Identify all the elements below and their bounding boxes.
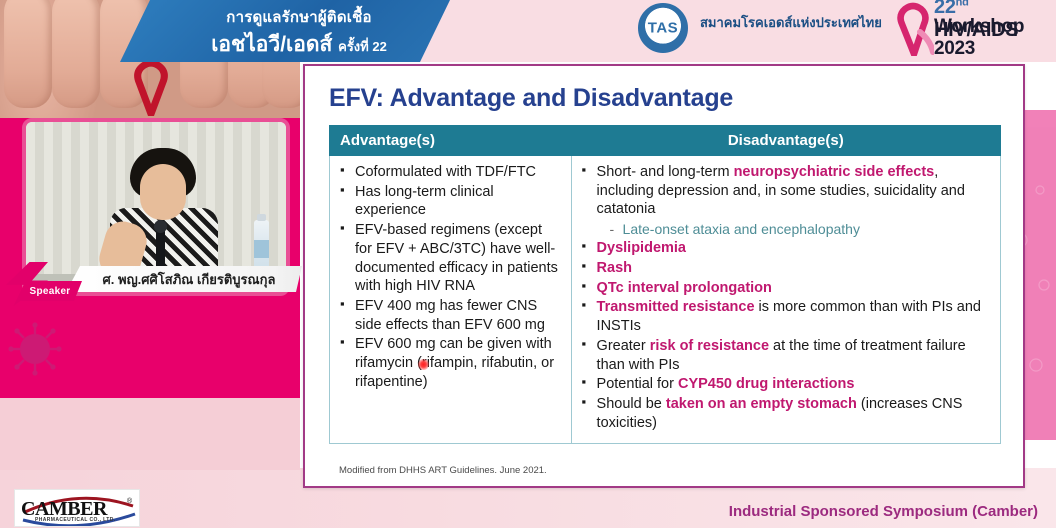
speaker-role-label: Speaker (29, 286, 70, 297)
camber-logo: CAMBER ® PHARMACEUTICAL CO., LTD. (14, 489, 140, 527)
advantage-cell: Coformulated with TDF/FTCHas long-term c… (330, 156, 572, 444)
disadvantage-item: Dyslipidemia (582, 239, 992, 258)
laser-pointer-dot (418, 359, 429, 370)
banner-thai-edition: ครั้งที่ 22 (338, 39, 387, 54)
advantage-disadvantage-table: Advantage(s) Disadvantage(s) Coformulate… (329, 125, 1001, 444)
workshop-title-line2: Workshop 2023 (934, 16, 1056, 60)
table-header-row: Advantage(s) Disadvantage(s) (330, 126, 1001, 156)
column-header-advantage: Advantage(s) (330, 126, 572, 156)
disadvantage-highlight: Dyslipidemia (597, 240, 686, 256)
slide-title: EFV: Advantage and Disadvantage (329, 84, 1001, 113)
disadvantage-subitem: Late-onset ataxia and encephalopathy (597, 220, 992, 238)
pink-ribbon-icon (894, 2, 934, 56)
disadvantage-text: Potential for (597, 376, 678, 392)
disadvantage-highlight: neuropsychiatric side effects (734, 164, 935, 180)
tas-organization-name: สมาคมโรคเอดส์แห่งประเทศไทย (700, 12, 882, 33)
disadvantage-list: Short- and long-term neuropsychiatric si… (582, 163, 992, 432)
disadvantage-highlight: risk of resistance (650, 338, 769, 354)
advantage-item: EFV 400 mg has fewer CNS side effects th… (340, 297, 563, 334)
workshop-logo: 22nd HIV/AIDS Workshop 2023 (890, 0, 1056, 58)
left-lower-pink-block (0, 398, 300, 470)
virus-icon (8, 322, 62, 376)
disadvantage-text: Should be (597, 396, 666, 412)
screen-root: การดูแลรักษาผู้ติดเชื้อ เอชไอวี/เอดส์ คร… (0, 0, 1056, 528)
camber-tagline: PHARMACEUTICAL CO., LTD. (35, 517, 116, 523)
disadvantage-cell: Short- and long-term neuropsychiatric si… (571, 156, 1000, 444)
slide-footnote: Modified from DHHS ART Guidelines. June … (339, 465, 547, 476)
disadvantage-item: Transmitted resistance is more common th… (582, 298, 992, 335)
advantage-item: Has long-term clinical experience (340, 183, 563, 220)
disadvantage-item: Greater risk of resistance at the time o… (582, 337, 992, 374)
disadvantage-text: Short- and long-term (597, 164, 734, 180)
water-bottle (254, 220, 269, 272)
advantage-list: Coformulated with TDF/FTCHas long-term c… (340, 163, 563, 391)
banner-thai-line1: การดูแลรักษาผู้ติดเชื้อ (166, 5, 432, 29)
disadvantage-highlight: QTc interval prolongation (597, 280, 772, 296)
tas-logo: TAS (638, 3, 688, 53)
disadvantage-item: Short- and long-term neuropsychiatric si… (582, 163, 992, 238)
banner-thai-main: เอชไอวี/เอดส์ (211, 33, 332, 56)
table-body-row: Coformulated with TDF/FTCHas long-term c… (330, 156, 1001, 444)
tas-logo-text: TAS (648, 20, 678, 37)
sponsor-label: Industrial Sponsored Symposium (Camber) (729, 503, 1038, 520)
aids-ribbon-icon (133, 58, 169, 116)
event-title-banner: การดูแลรักษาผู้ติดเชื้อ เอชไอวี/เอดส์ คร… (120, 0, 450, 62)
disadvantage-highlight: Transmitted resistance (597, 299, 755, 315)
banner-thai-line2: เอชไอวี/เอดส์ ครั้งที่ 22 (166, 28, 432, 61)
disadvantage-item: Potential for CYP450 drug interactions (582, 375, 992, 394)
disadvantage-highlight: Rash (597, 260, 632, 276)
workshop-edition-suffix: nd (956, 0, 969, 8)
advantage-item: EFV 600 mg can be given with rifamycin (… (340, 335, 563, 391)
advantage-item: Coformulated with TDF/FTC (340, 163, 563, 182)
presentation-slide[interactable]: EFV: Advantage and Disadvantage Advantag… (303, 64, 1025, 488)
column-header-disadvantage: Disadvantage(s) (571, 126, 1000, 156)
disadvantage-text: Greater (597, 338, 650, 354)
advantage-item: EFV-based regimens (except for EFV + ABC… (340, 221, 563, 296)
camber-registered-icon: ® (127, 498, 132, 505)
speaker-role-tag: Speaker (18, 281, 82, 301)
speaker-name: ศ. พญ.ศศิโสภิณ เกียรติบูรณกุล (93, 269, 276, 290)
disadvantage-highlight: taken on an empty stomach (666, 396, 857, 412)
disadvantage-item: QTc interval prolongation (582, 279, 992, 298)
disadvantage-item: Should be taken on an empty stomach (inc… (582, 395, 992, 432)
disadvantage-item: Rash (582, 259, 992, 278)
disadvantage-highlight: CYP450 drug interactions (678, 376, 854, 392)
speaker-name-bar: ศ. พญ.ศศิโสภิณ เกียรติบูรณกุล (66, 266, 302, 292)
